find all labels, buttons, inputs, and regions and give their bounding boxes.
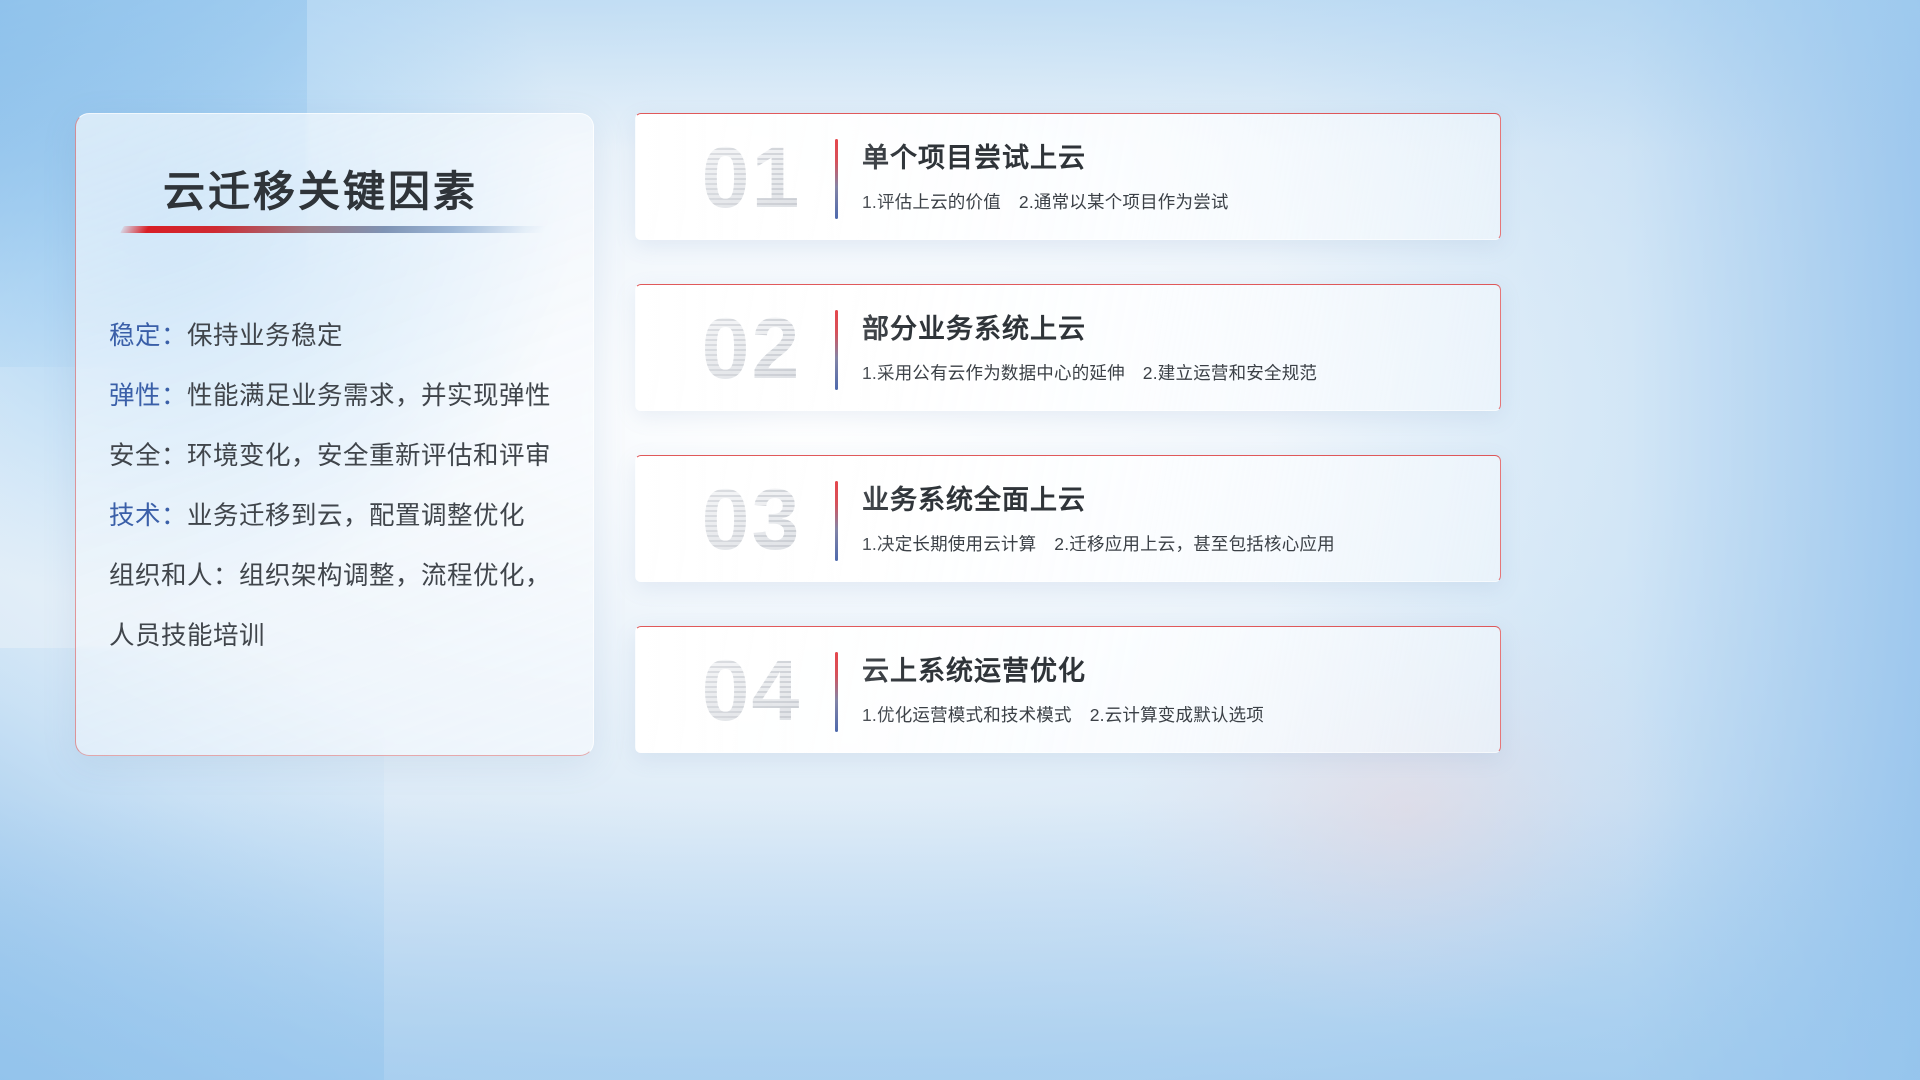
title-underline-rule xyxy=(120,226,548,233)
step-divider-bar xyxy=(835,139,838,219)
factor-value: 环境变化，安全重新评估和评审 xyxy=(187,442,551,470)
step-title: 云上系统运营优化 xyxy=(862,649,1086,688)
step-card-03[interactable]: 03 业务系统全面上云 1.决定长期使用云计算2.迁移应用上云，甚至包括核心应用 xyxy=(635,455,1501,582)
step-card-02[interactable]: 02 部分业务系统上云 1.采用公有云作为数据中心的延伸2.建立运营和安全规范 xyxy=(635,284,1501,411)
list-item: 人员技能培训 xyxy=(109,606,573,666)
step-divider-bar xyxy=(835,481,838,561)
step-number: 04 xyxy=(664,641,839,741)
step-points: 1.决定长期使用云计算2.迁移应用上云，甚至包括核心应用 xyxy=(862,531,1335,556)
step-card-04[interactable]: 04 云上系统运营优化 1.优化运营模式和技术模式2.云计算变成默认选项 xyxy=(635,626,1501,753)
panel-title: 云迁移关键因素 xyxy=(163,158,478,219)
step-point-2: 2.迁移应用上云，甚至包括核心应用 xyxy=(1054,534,1335,554)
step-point-2: 2.云计算变成默认选项 xyxy=(1090,705,1264,725)
list-item: 组织和人：组织架构调整，流程优化， xyxy=(109,546,573,606)
step-divider-bar xyxy=(835,652,838,732)
key-factors-list: 稳定：保持业务稳定 弹性：性能满足业务需求，并实现弹性 安全：环境变化，安全重新… xyxy=(109,306,573,666)
list-item: 技术：业务迁移到云，配置调整优化 xyxy=(109,486,573,546)
factor-value: 业务迁移到云，配置调整优化 xyxy=(187,502,525,530)
factor-label: 技术： xyxy=(109,502,187,530)
step-point-1: 1.优化运营模式和技术模式 xyxy=(862,705,1072,725)
factor-value: 保持业务稳定 xyxy=(187,322,343,350)
factor-value: 性能满足业务需求，并实现弹性 xyxy=(187,382,551,410)
step-points: 1.评估上云的价值2.通常以某个项目作为尝试 xyxy=(862,189,1229,214)
factor-label: 安全： xyxy=(109,442,187,470)
key-factors-panel: 云迁移关键因素 稳定：保持业务稳定 弹性：性能满足业务需求，并实现弹性 安全：环… xyxy=(75,113,594,756)
factor-label: 组织和人： xyxy=(109,562,239,590)
step-point-2: 2.建立运营和安全规范 xyxy=(1143,363,1317,383)
step-title: 业务系统全面上云 xyxy=(862,478,1086,517)
step-point-2: 2.通常以某个项目作为尝试 xyxy=(1019,192,1229,212)
factor-value: 人员技能培训 xyxy=(109,622,265,650)
list-item: 稳定：保持业务稳定 xyxy=(109,306,573,366)
list-item: 安全：环境变化，安全重新评估和评审 xyxy=(109,426,573,486)
step-divider-bar xyxy=(835,310,838,390)
step-number: 02 xyxy=(664,299,839,399)
step-number: 03 xyxy=(664,470,839,570)
list-item: 弹性：性能满足业务需求，并实现弹性 xyxy=(109,366,573,426)
step-number: 01 xyxy=(664,128,839,228)
step-point-1: 1.采用公有云作为数据中心的延伸 xyxy=(862,363,1125,383)
step-card-01[interactable]: 01 单个项目尝试上云 1.评估上云的价值2.通常以某个项目作为尝试 xyxy=(635,113,1501,240)
factor-value: 组织架构调整，流程优化， xyxy=(239,562,551,590)
step-points: 1.采用公有云作为数据中心的延伸2.建立运营和安全规范 xyxy=(862,360,1317,385)
step-points: 1.优化运营模式和技术模式2.云计算变成默认选项 xyxy=(862,702,1264,727)
factor-label: 弹性： xyxy=(109,382,187,410)
step-point-1: 1.决定长期使用云计算 xyxy=(862,534,1036,554)
step-title: 单个项目尝试上云 xyxy=(862,136,1086,175)
factor-label: 稳定： xyxy=(109,322,187,350)
step-point-1: 1.评估上云的价值 xyxy=(862,192,1001,212)
step-title: 部分业务系统上云 xyxy=(862,307,1086,346)
